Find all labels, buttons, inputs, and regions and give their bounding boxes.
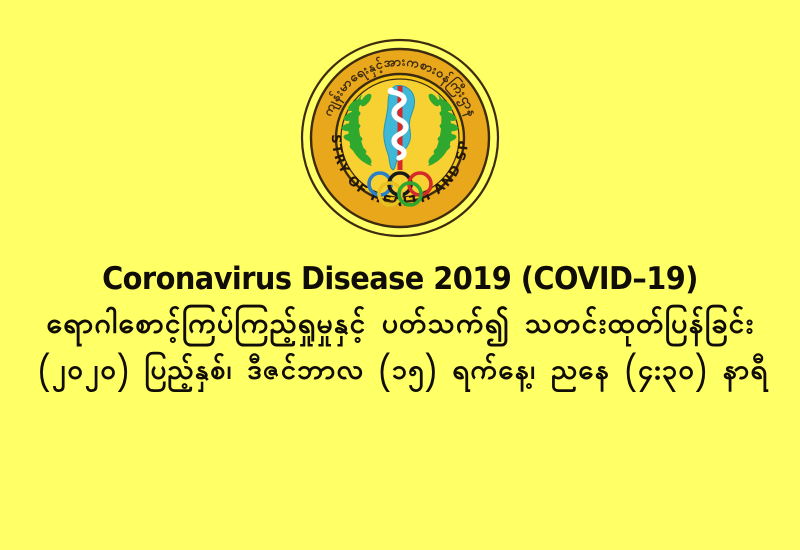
announcement-text-block: Coronavirus Disease 2019 (COVID–19) ရောဂ… xyxy=(0,262,800,391)
serpent-head-icon xyxy=(388,88,395,95)
ministry-seal-svg: ကျန်းမာရေးနှင့်အားကစားဝန်ကြီးဌာန MINISTR… xyxy=(300,34,500,242)
ministry-seal-logo: ကျန်းမာရေးနှင့်အားကစားဝန်ကြီးဌာန MINISTR… xyxy=(300,34,500,242)
page-title: Coronavirus Disease 2019 (COVID–19) xyxy=(28,262,772,297)
announcement-date-line: (၂၀၂၀) ပြည့်နှစ်၊ ဒီဇင်ဘာလ (၁၅) ရက်နေ့၊ … xyxy=(0,356,800,391)
announcement-page: ကျန်းမာရေးနှင့်အားကစားဝန်ကြီးဌာန MINISTR… xyxy=(0,0,800,550)
announcement-subject-line: ရောဂါစောင့်ကြပ်ကြည့်ရှုမှုနှင့် ပတ်သက်၍ … xyxy=(0,308,800,344)
